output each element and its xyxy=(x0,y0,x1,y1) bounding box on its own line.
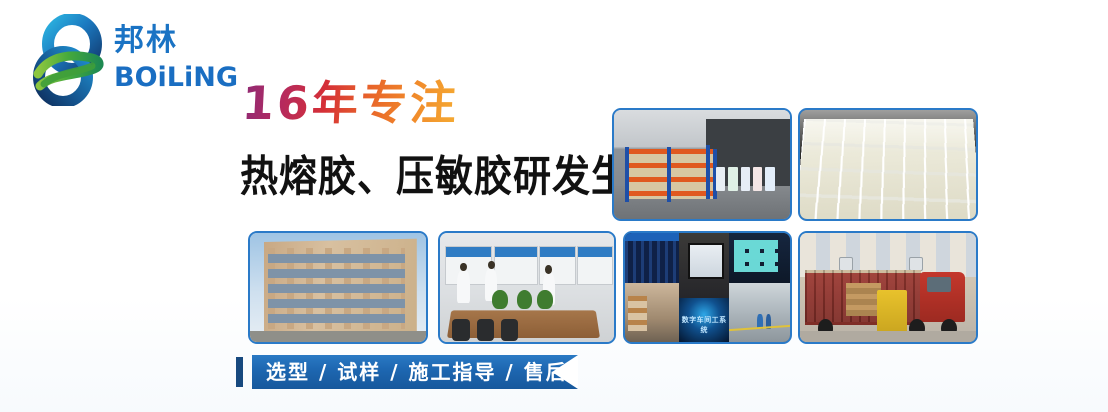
headline-primary: 16年专注 xyxy=(241,78,461,128)
gallery-photo-adhesive-blocks[interactable] xyxy=(798,108,978,221)
headline-secondary: 热熔胶、压敏胶研发生产 xyxy=(240,152,669,201)
ribbon-label: 选型 / 试样 / 施工指导 / 售后 xyxy=(266,355,568,389)
ribbon-accent-bar xyxy=(236,357,243,387)
brand-name-cn: 邦林 xyxy=(114,24,224,58)
gallery-photo-truck-loading[interactable] xyxy=(798,231,978,344)
office-building-scene xyxy=(250,233,426,342)
warehouse-scene xyxy=(614,110,790,219)
gallery-photo-warehouse[interactable] xyxy=(612,108,792,221)
digital-workshop-caption: 数字车间工系统 xyxy=(679,315,729,335)
brand-name-en: BOiLiNG xyxy=(114,62,224,94)
digital-workshop-scene: 数字车间工系统 xyxy=(625,233,790,342)
gallery-photo-office-building[interactable] xyxy=(248,231,428,344)
banner-root: 邦林 BOiLiNG 16年专注 热熔胶、压敏胶研发生产 选型 / 试样 / 施… xyxy=(0,0,1108,412)
boiling-infinity-e-logo-icon xyxy=(30,14,108,106)
gallery-photo-digital-workshop[interactable]: 数字车间工系统 xyxy=(623,231,792,344)
brand-wordmark: 邦林 BOiLiNG xyxy=(114,24,224,94)
truck-loading-scene xyxy=(800,233,976,342)
adhesive-blocks-scene xyxy=(800,110,976,219)
brand-logo[interactable]: 邦林 BOiLiNG xyxy=(30,14,220,106)
gallery-photo-laboratory[interactable] xyxy=(438,231,616,344)
laboratory-scene xyxy=(440,233,614,342)
